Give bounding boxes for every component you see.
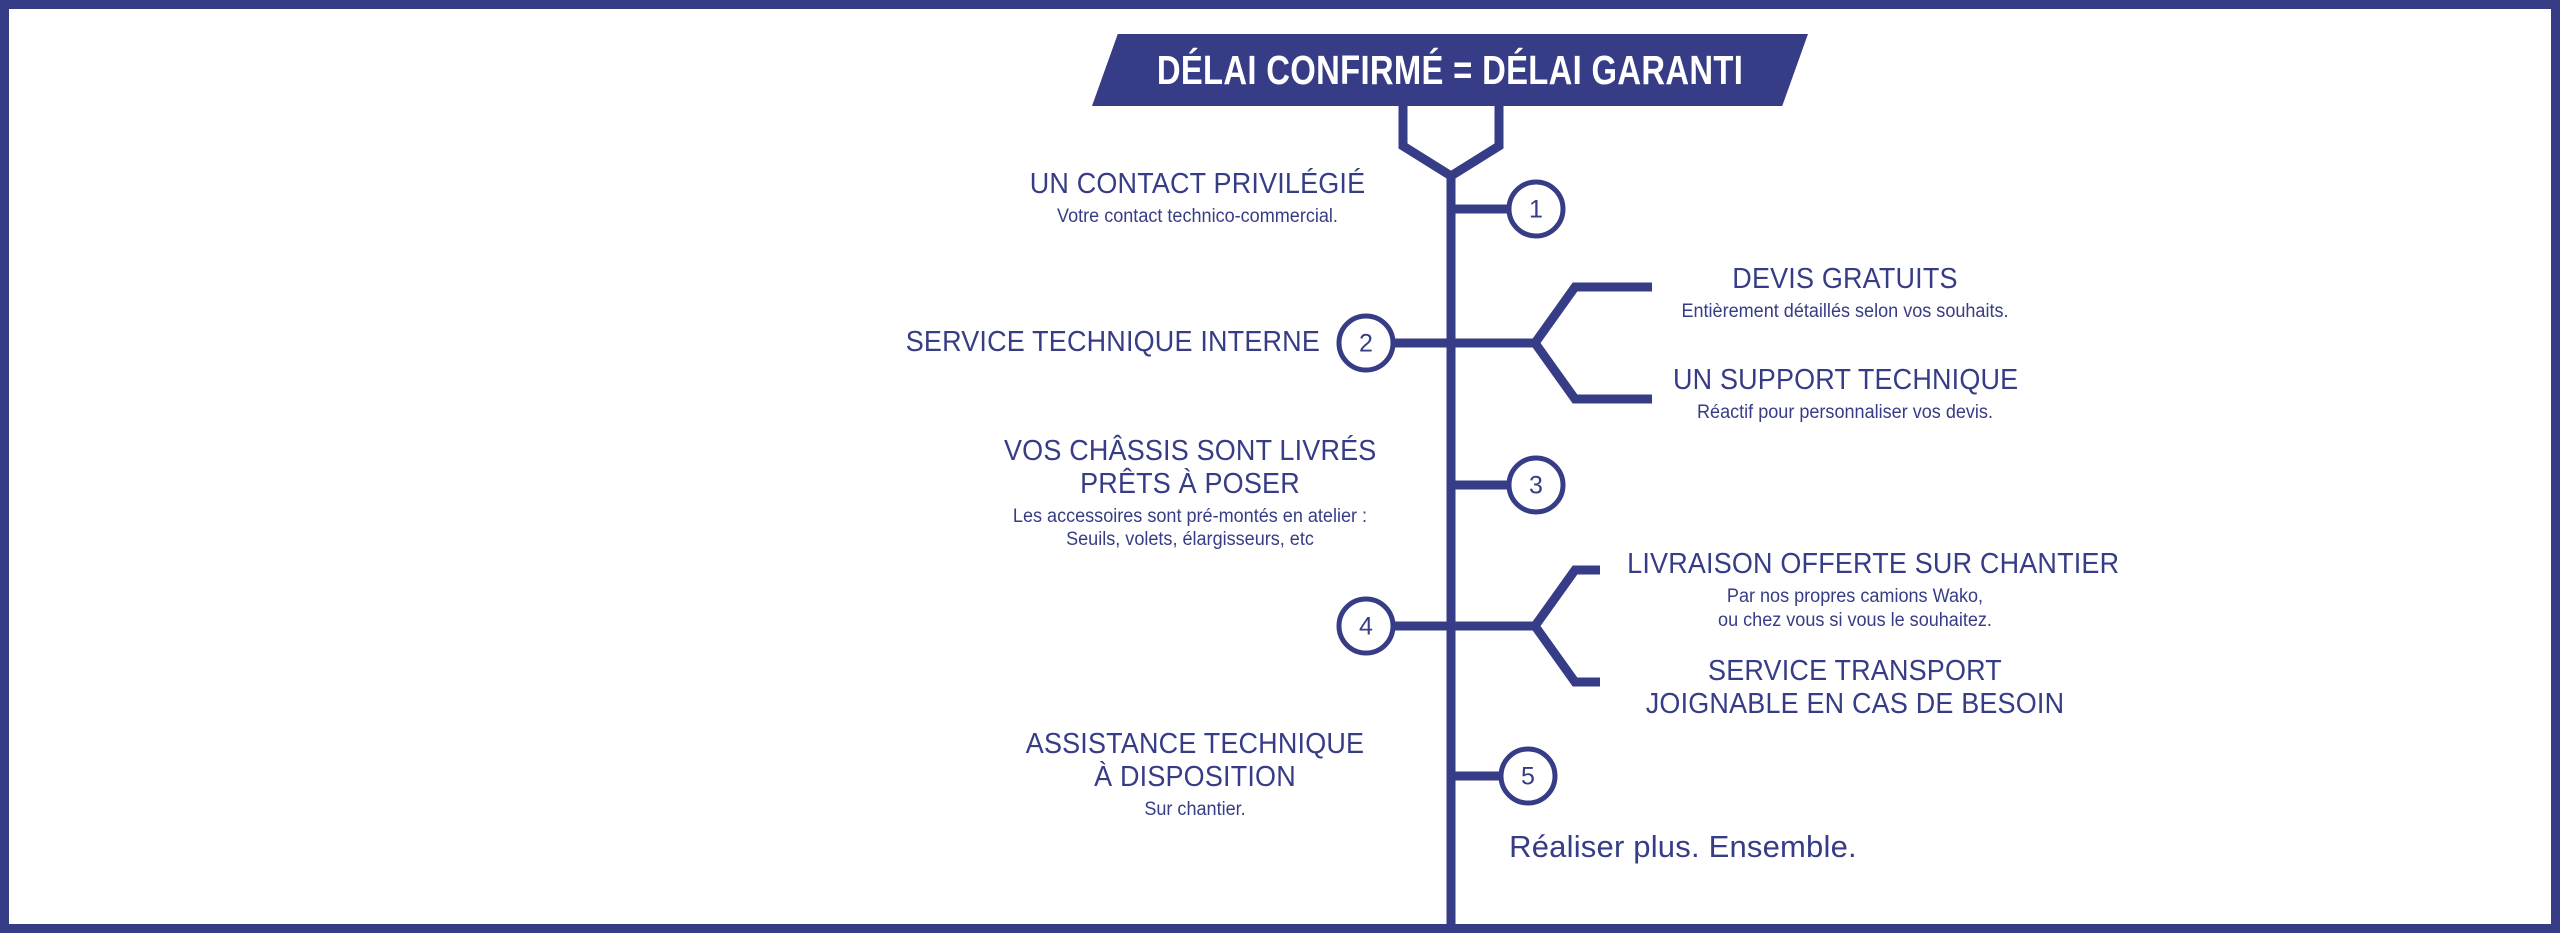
bracket-step-2-upper <box>1451 287 1652 343</box>
bracket-step-4-upper <box>1451 570 1600 626</box>
step-4-branch-2-title-line-1: SERVICE TRANSPORT <box>1627 655 2083 688</box>
step-number-5: 5 <box>1521 763 1535 792</box>
step-5-title-line-2: À DISPOSITION <box>1014 761 1377 794</box>
step-number-2: 2 <box>1359 330 1373 359</box>
step-1-text-block: UN CONTACT PRIVILÉGIÉ Votre contact tech… <box>1005 168 1390 229</box>
step-3-subtitle-line-1: Les accessoires sont pré-montés en ateli… <box>1000 505 1380 529</box>
step-3-text-block: VOS CHÂSSIS SONT LIVRÉS PRÊTS À POSER Le… <box>990 435 1390 552</box>
header-banner: DÉLAI CONFIRMÉ = DÉLAI GARANTI <box>1092 34 1808 106</box>
step-3-title-line-2: PRÊTS À POSER <box>1004 468 1376 501</box>
step-4-branch-1-title: LIVRAISON OFFERTE SUR CHANTIER <box>1627 548 2083 581</box>
step-5-text-block: ASSISTANCE TECHNIQUE À DISPOSITION Sur c… <box>1000 728 1390 821</box>
step-5-title-line-1: ASSISTANCE TECHNIQUE <box>1014 728 1377 761</box>
step-5-subtitle: Sur chantier. <box>1010 798 1381 822</box>
step-1-subtitle: Votre contact technico-commercial. <box>1015 205 1381 229</box>
bracket-step-4-lower <box>1535 626 1600 682</box>
step-number-4: 4 <box>1359 613 1373 642</box>
bracket-step-2-lower <box>1535 343 1652 399</box>
step-2-branch-2-title: UN SUPPORT TECHNIQUE <box>1673 364 2017 397</box>
infographic-poster: 1 2 3 4 5 DÉLAI CONFIRMÉ = DÉLAI GARANTI… <box>0 0 2560 933</box>
step-2-branch-1-text-block: DEVIS GRATUITS Entièrement détaillés sel… <box>1660 263 2030 324</box>
tagline: Réaliser plus. Ensemble. <box>1509 829 1857 865</box>
step-2-branch-2-subtitle: Réactif pour personnaliser vos devis. <box>1669 401 2021 425</box>
step-4-branch-1-subtitle-line-1: Par nos propres camions Wako, <box>1622 585 2088 609</box>
step-2-title: SERVICE TECHNIQUE INTERNE <box>902 326 1321 359</box>
step-1-title: UN CONTACT PRIVILÉGIÉ <box>1018 168 1376 201</box>
header-banner-label: DÉLAI CONFIRMÉ = DÉLAI GARANTI <box>1164 34 1737 106</box>
step-4-branch-2-title-line-2: JOIGNABLE EN CAS DE BESOIN <box>1627 688 2083 721</box>
step-4-branch-1-subtitle-line-2: ou chez vous si vous le souhaitez. <box>1622 609 2088 633</box>
step-2-branch-1-title: DEVIS GRATUITS <box>1673 263 2017 296</box>
step-2-text-block: SERVICE TECHNIQUE INTERNE <box>870 326 1320 359</box>
step-3-subtitle-line-2: Seuils, volets, élargisseurs, etc <box>1000 528 1380 552</box>
funnel-shape <box>1403 106 1499 176</box>
step-number-1: 1 <box>1529 196 1543 225</box>
step-3-title-line-1: VOS CHÂSSIS SONT LIVRÉS <box>1004 435 1376 468</box>
step-4-branch-2-text-block: SERVICE TRANSPORT JOIGNABLE EN CAS DE BE… <box>1610 655 2100 721</box>
step-4-branch-1-text-block: LIVRAISON OFFERTE SUR CHANTIER Par nos p… <box>1610 548 2100 632</box>
step-number-3: 3 <box>1529 472 1543 501</box>
step-2-branch-1-subtitle: Entièrement détaillés selon vos souhaits… <box>1669 300 2021 324</box>
step-2-branch-2-text-block: UN SUPPORT TECHNIQUE Réactif pour person… <box>1660 364 2030 425</box>
